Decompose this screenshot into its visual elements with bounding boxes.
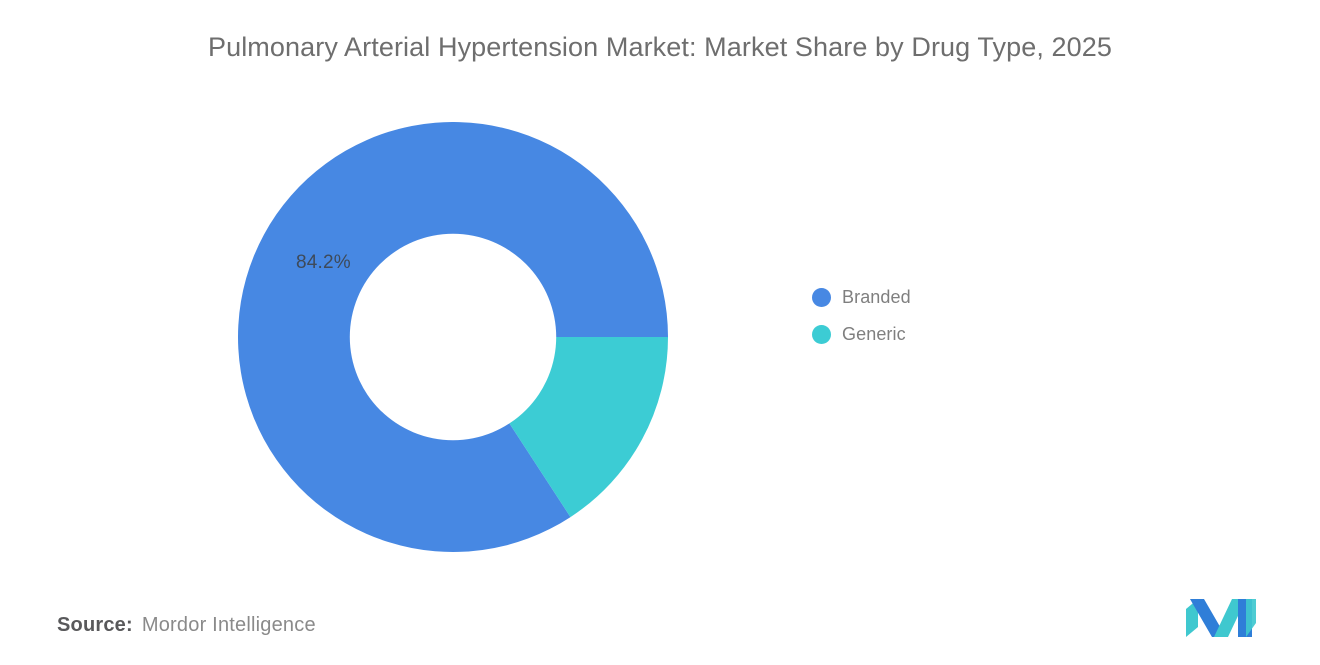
chart-canvas: Pulmonary Arterial Hypertension Market: … (0, 0, 1320, 665)
legend-item-generic[interactable]: Generic (812, 323, 911, 345)
legend-label-generic: Generic (842, 324, 906, 345)
legend-label-branded: Branded (842, 287, 911, 308)
source-label: Source: (57, 614, 133, 637)
legend-item-branded[interactable]: Branded (812, 286, 911, 308)
slice-label-branded: 84.2% (296, 252, 351, 274)
chart-title: Pulmonary Arterial Hypertension Market: … (0, 32, 1320, 63)
donut-hole (350, 234, 556, 440)
mordor-intelligence-logo (1184, 597, 1258, 639)
source-attribution: Source: Mordor Intelligence (57, 614, 316, 637)
source-value: Mordor Intelligence (142, 614, 316, 637)
legend-swatch-branded-icon (812, 288, 831, 307)
chart-legend: Branded Generic (812, 286, 911, 345)
donut-chart-svg (238, 122, 668, 552)
mordor-intelligence-logo-icon (1184, 597, 1258, 639)
legend-swatch-generic-icon (812, 325, 831, 344)
donut-chart (238, 122, 668, 552)
